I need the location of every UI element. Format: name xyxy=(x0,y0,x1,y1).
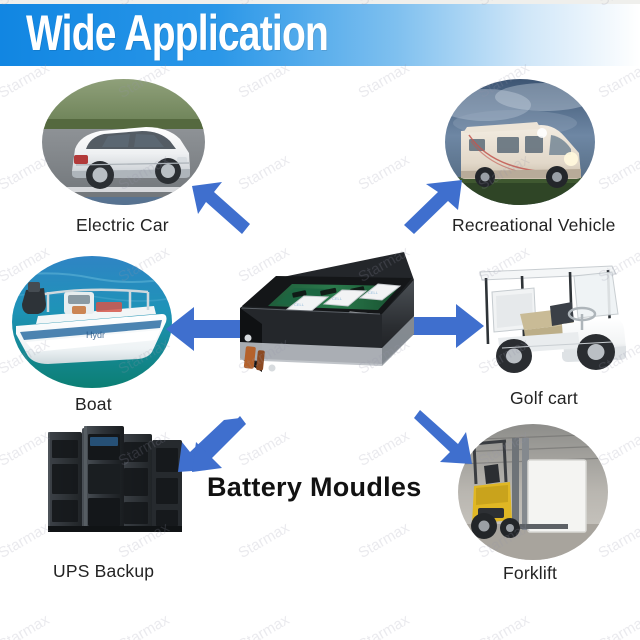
watermark-text: Starmax xyxy=(595,151,640,194)
page-title: Wide Application xyxy=(26,4,328,64)
battery-module-photo: CELLCELL CELLCELL CELLCELL xyxy=(232,246,418,398)
golf-cart-label: Golf cart xyxy=(510,388,578,409)
watermark-text: Starmax xyxy=(0,611,52,640)
watermark-text: Starmax xyxy=(235,519,292,562)
boat-photo: Hydr xyxy=(12,256,172,388)
arrow-up-left-icon xyxy=(186,176,258,242)
svg-text:Hydr: Hydr xyxy=(86,330,105,340)
svg-text:CELL: CELL xyxy=(294,302,305,307)
arrow-down-left-icon xyxy=(176,408,248,478)
watermark-text: Starmax xyxy=(595,427,640,470)
svg-text:CELL: CELL xyxy=(368,290,379,295)
electric-car-label: Electric Car xyxy=(76,215,169,236)
watermark-text: Starmax xyxy=(355,519,412,562)
watermark-text: Starmax xyxy=(595,519,640,562)
watermark-text: Starmax xyxy=(595,611,640,640)
ups-backup-label: UPS Backup xyxy=(53,561,154,582)
svg-text:CELL: CELL xyxy=(332,296,343,301)
golf-cart-photo xyxy=(462,252,634,382)
recreational-vehicle-label: Recreational Vehicle xyxy=(452,215,616,236)
watermark-text: Starmax xyxy=(115,611,172,640)
watermark-text: Starmax xyxy=(475,611,532,640)
electric-car-photo xyxy=(42,79,205,205)
watermark-text: Starmax xyxy=(235,611,292,640)
watermark-text: Starmax xyxy=(355,427,412,470)
arrow-down-right-icon xyxy=(406,404,482,478)
product-title: Battery Moudles xyxy=(207,472,422,503)
arrow-right-icon xyxy=(410,302,486,350)
wide-application-infographic: Wide Application xyxy=(0,0,640,640)
forklift-label: Forklift xyxy=(503,563,557,584)
header-banner: Wide Application xyxy=(0,4,640,66)
arrow-left-icon xyxy=(164,305,242,353)
watermark-text: Starmax xyxy=(355,611,412,640)
boat-label: Boat xyxy=(75,394,112,415)
arrow-up-right-icon xyxy=(396,172,468,240)
